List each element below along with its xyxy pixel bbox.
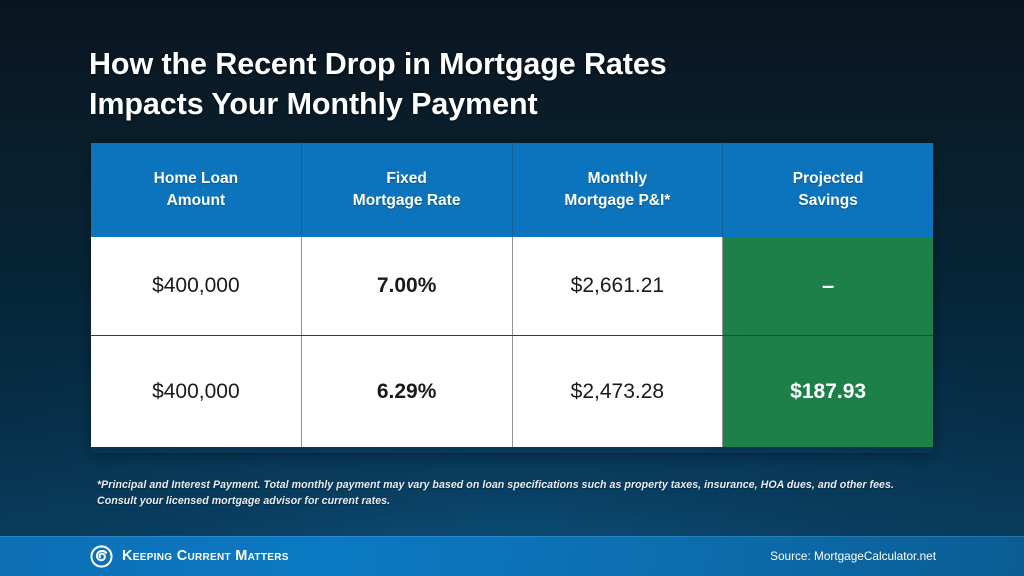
cell-projected-savings: –: [723, 237, 933, 335]
column-header-line-2: Savings: [798, 190, 857, 212]
footer-bar: Keeping Current Matters Source: Mortgage…: [0, 536, 1024, 576]
cell-monthly-payment: $2,661.21: [513, 237, 724, 335]
table-header-row: Home Loan Amount Fixed Mortgage Rate Mon…: [91, 143, 933, 237]
column-header-line-1: Monthly: [588, 168, 647, 190]
cell-fixed-mortgage-rate: 6.29%: [302, 336, 513, 447]
mortgage-comparison-table: Home Loan Amount Fixed Mortgage Rate Mon…: [91, 143, 933, 453]
column-header-monthly-mortgage-pi: Monthly Mortgage P&I*: [513, 143, 724, 237]
column-header-line-2: Mortgage Rate: [353, 190, 461, 212]
spiral-circle-logo-icon: [90, 545, 113, 568]
cell-home-loan-amount: $400,000: [91, 336, 302, 447]
footnote-line-2: Consult your licensed mortgage advisor f…: [97, 493, 927, 509]
cell-monthly-payment: $2,473.28: [513, 336, 724, 447]
column-header-line-1: Fixed: [386, 168, 426, 190]
source-attribution: Source: MortgageCalculator.net: [770, 549, 936, 563]
table-row: $400,000 7.00% $2,661.21 –: [91, 237, 933, 336]
cell-fixed-mortgage-rate: 7.00%: [302, 237, 513, 335]
brand-lockup: Keeping Current Matters: [90, 545, 289, 568]
slide-background: How the Recent Drop in Mortgage Rates Im…: [0, 0, 1024, 576]
footnote-line-1: *Principal and Interest Payment. Total m…: [97, 477, 927, 493]
page-title: How the Recent Drop in Mortgage Rates Im…: [89, 44, 889, 124]
column-header-line-2: Mortgage P&I*: [564, 190, 670, 212]
table-row: $400,000 6.29% $2,473.28 $187.93: [91, 336, 933, 447]
column-header-line-1: Projected: [793, 168, 864, 190]
page-title-line-1: How the Recent Drop in Mortgage Rates: [89, 47, 667, 81]
cell-projected-savings: $187.93: [723, 336, 933, 447]
cell-home-loan-amount: $400,000: [91, 237, 302, 335]
column-header-projected-savings: Projected Savings: [723, 143, 933, 237]
column-header-home-loan-amount: Home Loan Amount: [91, 143, 302, 237]
column-header-line-1: Home Loan: [154, 168, 238, 190]
footnote-disclaimer: *Principal and Interest Payment. Total m…: [97, 477, 927, 509]
brand-name: Keeping Current Matters: [122, 548, 289, 564]
column-header-fixed-mortgage-rate: Fixed Mortgage Rate: [302, 143, 513, 237]
column-header-line-2: Amount: [167, 190, 226, 212]
page-title-line-2: Impacts Your Monthly Payment: [89, 84, 889, 124]
